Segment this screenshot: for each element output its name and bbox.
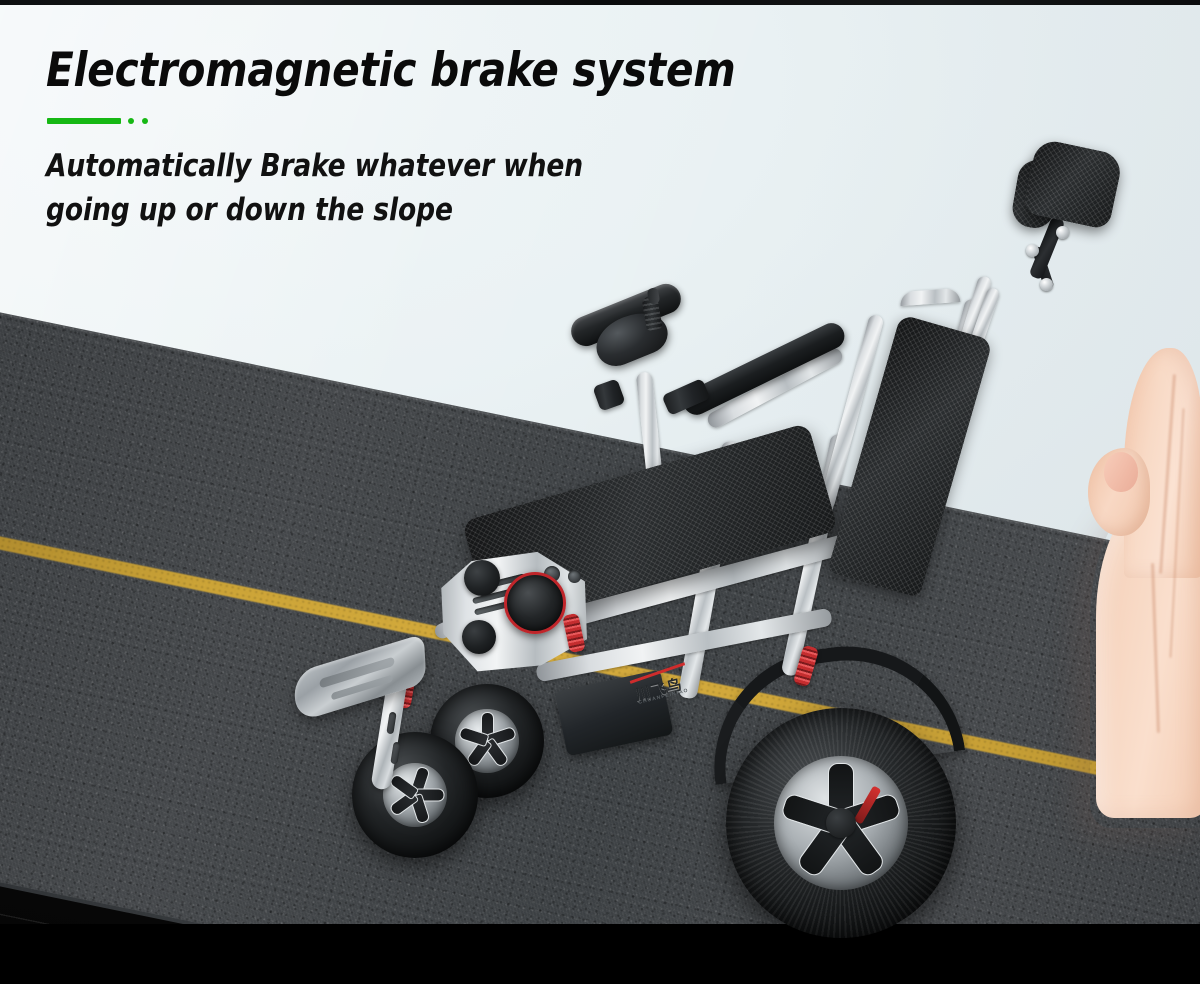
electromagnetic-brake-disc xyxy=(504,572,566,634)
banner-copy: Electromagnetic brake system Automatical… xyxy=(46,46,786,232)
rear-wheel xyxy=(726,708,956,938)
subtitle-line-1: Automatically Brake whatever when xyxy=(46,144,749,188)
headrest-lock-knob[interactable] xyxy=(1040,278,1053,291)
subtitle-line-2: going up or down the slope xyxy=(46,188,749,232)
accent-bar xyxy=(47,118,121,124)
front-caster-wheel xyxy=(352,732,478,858)
joystick-clamp xyxy=(592,378,625,411)
thumb-nail xyxy=(1104,452,1138,492)
pivot-boss-lower xyxy=(462,620,496,654)
pivot-boss-upper xyxy=(464,560,500,596)
hub-cap xyxy=(826,808,856,838)
truss-hole xyxy=(568,570,581,583)
stop-hand xyxy=(1080,348,1200,818)
accent-dot-icon xyxy=(142,118,148,124)
headrest-pivot-knob[interactable] xyxy=(1026,244,1039,257)
banner-subtitle: Automatically Brake whatever when going … xyxy=(46,144,749,232)
brand-logo: 川飞鸟 CHUANFEINIAO xyxy=(627,660,703,710)
backrest xyxy=(827,314,993,598)
promo-banner: 川飞鸟 CHUANFEINIAO xyxy=(0,0,1200,984)
page-title: Electromagnetic brake system xyxy=(46,46,756,96)
accent-dot-icon xyxy=(128,118,134,124)
frame-push-handle xyxy=(900,288,961,306)
headrest-adjust-knob[interactable] xyxy=(1056,226,1069,239)
rear-rim xyxy=(774,756,908,890)
footplate xyxy=(294,633,427,722)
accent-rule xyxy=(47,118,786,124)
